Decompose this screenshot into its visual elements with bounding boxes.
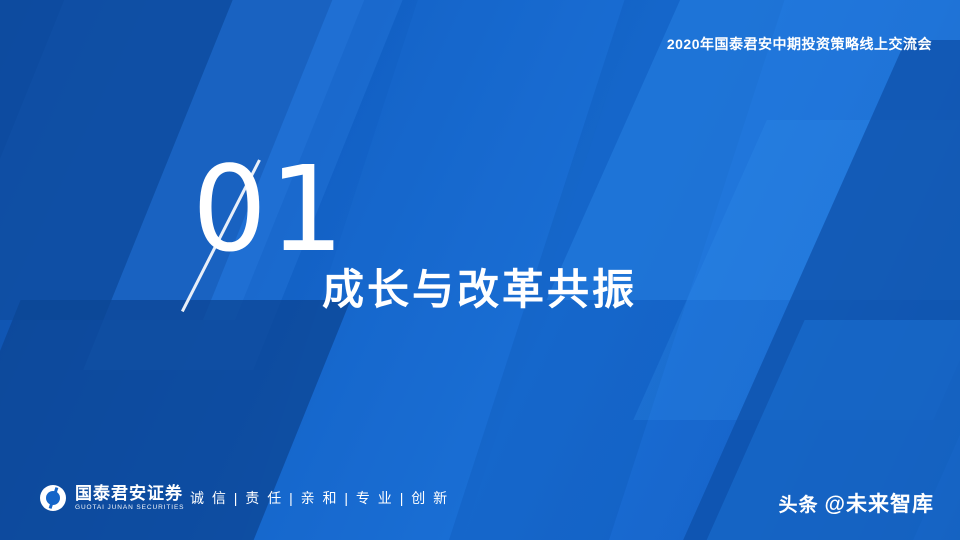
brand-logo-text: 国泰君安证券 GUOTAI JUNAN SECURITIES [75, 484, 184, 512]
brand-name-en: GUOTAI JUNAN SECURITIES [75, 503, 184, 512]
watermark-badge: 头条 [779, 490, 819, 517]
watermark-text: @未来智库 [825, 488, 934, 518]
brand-logo: 国泰君安证券 GUOTAI JUNAN SECURITIES [40, 484, 184, 512]
slide-header-title: 2020年国泰君安中期投资策略线上交流会 [667, 34, 932, 54]
presentation-slide: 2020年国泰君安中期投资策略线上交流会 01 成长与改革共振 国泰君安证券 G… [0, 0, 960, 540]
guotai-junan-circle-logo [40, 485, 66, 511]
brand-slogan: 诚 信 | 责 任 | 亲 和 | 专 业 | 创 新 [190, 488, 449, 508]
brand-name-cn: 国泰君安证券 [75, 484, 184, 503]
section-title: 成长与改革共振 [322, 256, 637, 317]
watermark: 头条 @未来智库 [779, 488, 935, 518]
